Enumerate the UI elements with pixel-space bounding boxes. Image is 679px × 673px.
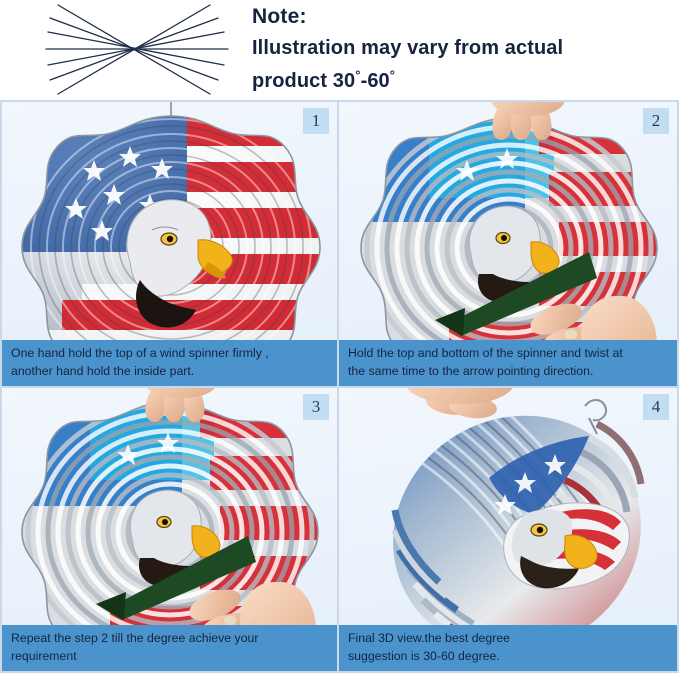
panel-3-caption: Repeat the step 2 till the degree achiev… bbox=[2, 625, 337, 671]
hand-upper-gripping bbox=[140, 387, 226, 424]
panel-2-caption-line-2: the same time to the arrow pointing dire… bbox=[348, 363, 668, 381]
hand-upper-gripping bbox=[487, 100, 573, 142]
step-badge-2: 2 bbox=[643, 108, 669, 134]
instruction-panel-3: 3 bbox=[0, 387, 338, 673]
note-range-mid: -60 bbox=[361, 70, 390, 92]
note-block: Note: Illustration may vary from actual … bbox=[252, 2, 672, 98]
panel-4-caption-line-2: suggestion is 30-60 degree. bbox=[348, 648, 668, 666]
panel-4-caption: Final 3D view.the best degree suggestion… bbox=[339, 625, 677, 671]
step-badge-4: 4 bbox=[643, 394, 669, 420]
instruction-panel-4: 4 bbox=[338, 387, 679, 673]
step-badge-3: 3 bbox=[303, 394, 329, 420]
instruction-panel-2: 2 bbox=[338, 100, 679, 387]
instruction-panel-1: 1 bbox=[0, 100, 338, 387]
panel-4-caption-line-1: Final 3D view.the best degree bbox=[348, 630, 668, 648]
note-line-1: Illustration may vary from actual bbox=[252, 32, 672, 65]
panel-2-caption-line-1: Hold the top and bottom of the spinner a… bbox=[348, 345, 668, 363]
instruction-panel-grid: 1 bbox=[0, 100, 679, 673]
angle-range-starburst-icon bbox=[42, 2, 232, 98]
panel-3-caption-line-1: Repeat the step 2 till the degree achiev… bbox=[11, 630, 328, 648]
note-line-2: product 30°-60° bbox=[252, 65, 672, 98]
panel-1-caption-line-2: another hand hold the inside part. bbox=[11, 363, 328, 381]
hand-holding-hanger bbox=[405, 387, 531, 430]
degree-symbol-high: ° bbox=[390, 67, 395, 82]
instruction-sheet: Note: Illustration may vary from actual … bbox=[0, 0, 679, 673]
step-badge-1: 1 bbox=[303, 108, 329, 134]
note-title: Note: bbox=[252, 2, 672, 32]
note-product-range: product 30 bbox=[252, 70, 355, 92]
header: Note: Illustration may vary from actual … bbox=[0, 0, 679, 100]
panel-1-caption: One hand hold the top of a wind spinner … bbox=[2, 340, 337, 386]
panel-3-caption-line-2: requirement bbox=[11, 648, 328, 666]
panel-2-caption: Hold the top and bottom of the spinner a… bbox=[339, 340, 677, 386]
panel-1-caption-line-1: One hand hold the top of a wind spinner … bbox=[11, 345, 328, 363]
